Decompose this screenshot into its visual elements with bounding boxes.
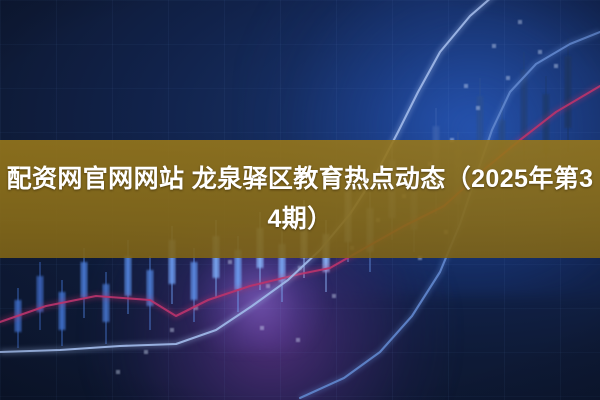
page-title: 配资网官网网站 龙泉驿区教育热点动态（2025年第34期） [4,159,596,239]
article-banner: 配资网官网网站 龙泉驿区教育热点动态（2025年第34期） [0,0,600,400]
headline-band: 配资网官网网站 龙泉驿区教育热点动态（2025年第34期） [0,140,600,258]
